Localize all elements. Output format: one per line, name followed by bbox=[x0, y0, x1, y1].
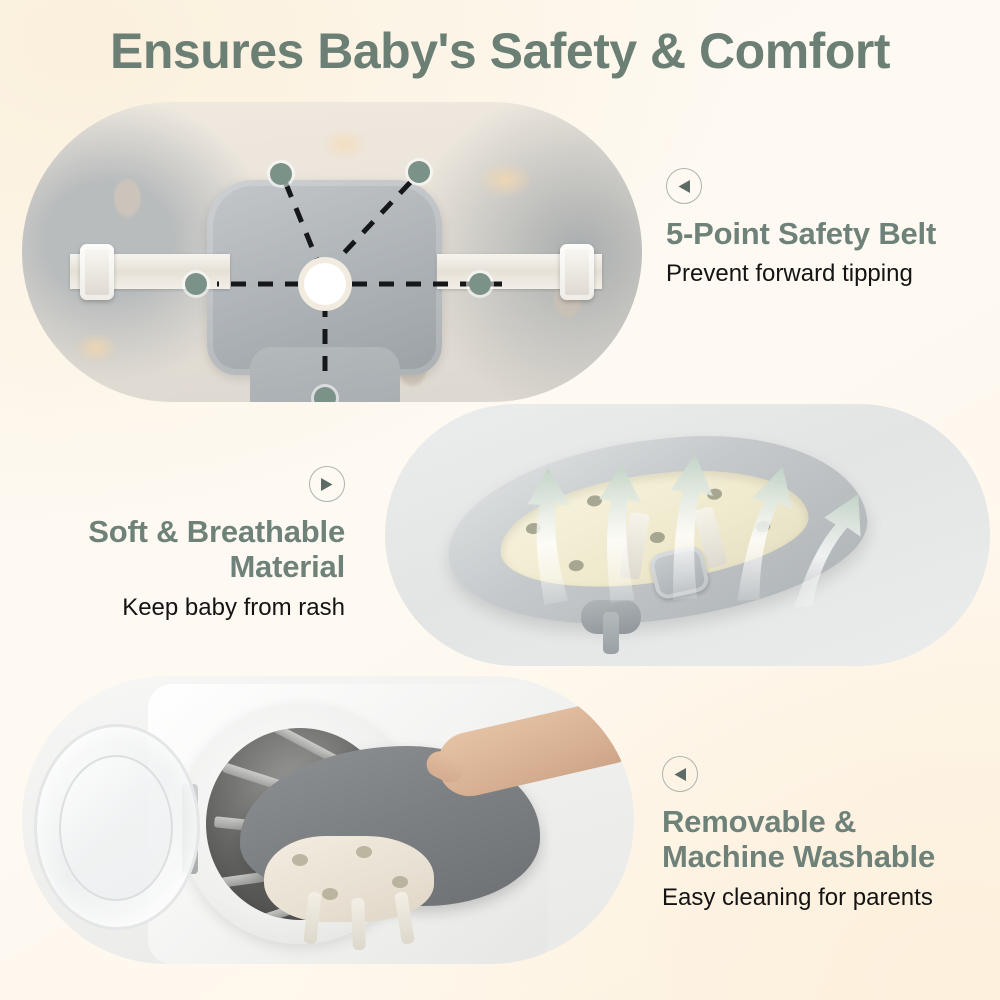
cushion-print-dot bbox=[568, 559, 584, 572]
feature-title: Removable & Machine Washable bbox=[662, 804, 935, 875]
feature-subtitle: Prevent forward tipping bbox=[666, 260, 936, 289]
feature-image-breathable bbox=[385, 404, 990, 666]
cushion-print-dot bbox=[649, 531, 665, 544]
feature-text-breathable: Soft & Breathable Material Keep baby fro… bbox=[80, 466, 345, 622]
lining-print-dot bbox=[322, 888, 338, 900]
triangle-left-icon bbox=[666, 168, 702, 204]
triangle-left-icon bbox=[662, 756, 698, 792]
feature-subtitle: Easy cleaning for parents bbox=[662, 884, 935, 913]
door-glass bbox=[59, 755, 173, 901]
harness-point-shoulder-left bbox=[270, 163, 292, 185]
feature-image-machine-washable bbox=[22, 676, 634, 964]
cushion-print-dot bbox=[706, 488, 722, 501]
cushion-print-dot bbox=[525, 522, 541, 535]
seat-cover-strap bbox=[351, 898, 366, 950]
feature-subtitle: Keep baby from rash bbox=[80, 594, 345, 623]
cushion-print-dot bbox=[755, 520, 771, 533]
harness-point-waist-left bbox=[185, 273, 207, 295]
feature-title: 5-Point Safety Belt bbox=[666, 216, 936, 251]
feature-image-safety-belt bbox=[22, 102, 642, 402]
feature-text-safety-belt: 5-Point Safety Belt Prevent forward tipp… bbox=[666, 168, 936, 289]
lining-print-dot bbox=[392, 876, 408, 888]
infographic-page: Ensures Baby's Safety & Comfort bbox=[0, 0, 1000, 1000]
triangle-right-icon bbox=[309, 466, 345, 502]
page-title: Ensures Baby's Safety & Comfort bbox=[0, 22, 1000, 80]
lining-print-dot bbox=[292, 854, 308, 866]
cushion-print-dot bbox=[586, 495, 602, 508]
rocker-seat-frame bbox=[438, 415, 877, 645]
harness-point-waist-right bbox=[469, 273, 491, 295]
harness-point-shoulder-right bbox=[408, 161, 430, 183]
lining-print-dot bbox=[356, 846, 372, 858]
harness-point-crotch bbox=[314, 387, 336, 402]
washing-machine-door bbox=[34, 724, 200, 930]
rocker-support-stem bbox=[603, 612, 619, 654]
feature-text-machine-washable: Removable & Machine Washable Easy cleani… bbox=[662, 756, 935, 912]
feature-title: Soft & Breathable Material bbox=[80, 514, 345, 585]
harness-center-buckle bbox=[304, 263, 346, 305]
harness-diagram-lines bbox=[22, 102, 642, 402]
